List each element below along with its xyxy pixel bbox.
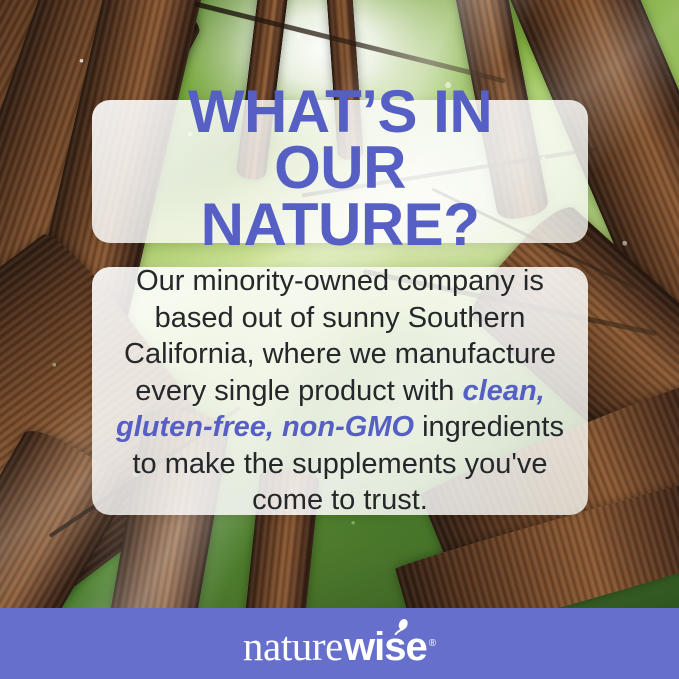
- page-title: WHAT’S IN OUR NATURE?: [118, 84, 562, 253]
- body-copy-card: Our minority-owned company is based out …: [92, 267, 588, 515]
- brand-footer-bar: naturewise®: [0, 608, 679, 679]
- body-paragraph: Our minority-owned company is based out …: [114, 263, 566, 519]
- logo-text-wise: wise: [344, 625, 427, 670]
- marketing-image: WHAT’S IN OUR NATURE? Our minority-owned…: [0, 0, 679, 679]
- headline-line-1: WHAT’S IN OUR: [188, 78, 492, 201]
- headline-line-2: NATURE?: [201, 191, 480, 258]
- registered-trademark-mark: ®: [429, 638, 436, 649]
- leaf-icon: [394, 618, 409, 635]
- headline-card: WHAT’S IN OUR NATURE?: [92, 100, 588, 243]
- logo-text-nature: nature: [243, 622, 343, 670]
- naturewise-logo: naturewise®: [243, 622, 436, 670]
